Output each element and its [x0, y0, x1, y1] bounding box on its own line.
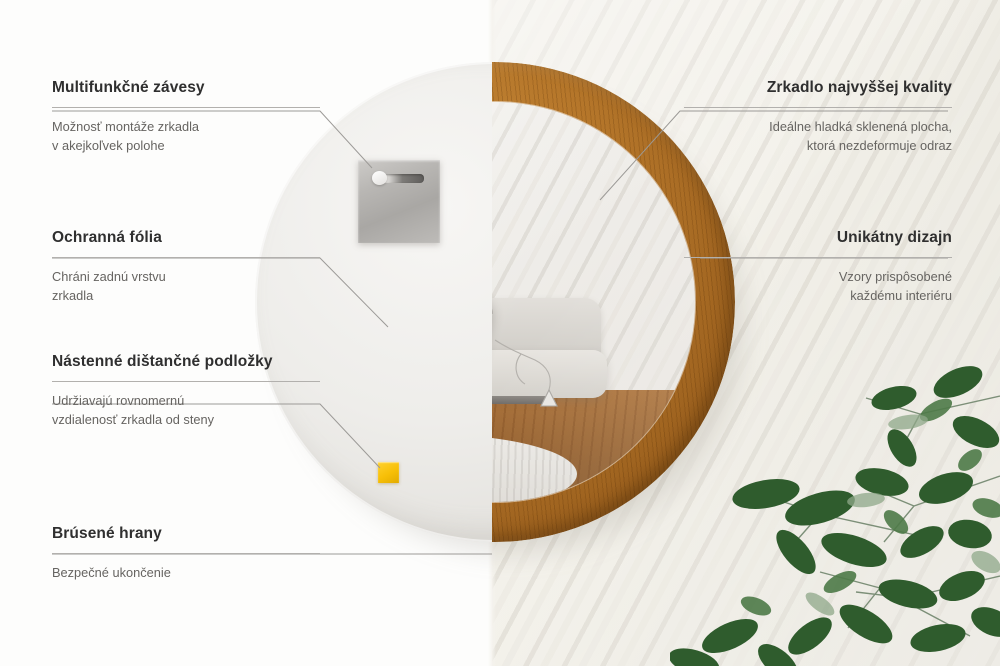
- annotation-title: Ochranná fólia: [52, 228, 320, 248]
- annotation-desc: Možnosť montáže zrkadla v akejkoľvek pol…: [52, 117, 320, 155]
- annotation-desc-line2: vzdialenosť zrkadla od steny: [52, 412, 214, 427]
- annotation-desc-line1: Udržiavajú rovnomernú: [52, 393, 184, 408]
- annotation-title: Unikátny dizajn: [684, 228, 952, 248]
- annotation-brusene-hrany: Brúsené hrany Bezpečné ukončenie: [52, 524, 320, 582]
- annotation-desc: Chráni zadnú vrstvu zrkadla: [52, 267, 320, 305]
- annotation-desc-line2: zrkadla: [52, 288, 93, 303]
- product-mirror: [255, 62, 735, 542]
- wall-spacer-pad: [378, 462, 399, 483]
- annotation-ochranna-folia: Ochranná fólia Chráni zadnú vrstvu zrkad…: [52, 228, 320, 305]
- annotation-rule: [52, 257, 320, 258]
- annotation-nastenne-distancne-podlozky: Nástenné dištančné podložky Udržiavajú r…: [52, 352, 320, 429]
- annotation-desc-line1: Chráni zadnú vrstvu: [52, 269, 166, 284]
- annotation-unikatny-dizajn: Unikátny dizajn Vzory prispôsobené každé…: [684, 228, 952, 305]
- annotation-rule: [684, 257, 952, 258]
- annotation-rule: [684, 107, 952, 108]
- annotation-title: Zrkadlo najvyššej kvality: [684, 78, 952, 98]
- annotation-desc: Ideálne hladká sklenená plocha, ktorá ne…: [684, 117, 952, 155]
- annotation-title: Nástenné dištančné podložky: [52, 352, 320, 372]
- annotation-desc-line1: Bezpečné ukončenie: [52, 565, 171, 580]
- annotation-desc-line2: ktorá nezdeformuje odraz: [807, 138, 952, 153]
- annotation-desc-line1: Vzory prispôsobené: [839, 269, 952, 284]
- annotation-title: Multifunkčné závesy: [52, 78, 320, 98]
- infographic-canvas: Multifunkčné závesy Možnosť montáže zrka…: [0, 0, 1000, 666]
- annotation-desc: Udržiavajú rovnomernú vzdialenosť zrkadl…: [52, 391, 320, 429]
- annotation-zrkadlo-najvyssej-kvality: Zrkadlo najvyššej kvality Ideálne hladká…: [684, 78, 952, 155]
- annotation-rule: [52, 553, 320, 554]
- annotation-desc-line1: Možnosť montáže zrkadla: [52, 119, 199, 134]
- annotation-title: Brúsené hrany: [52, 524, 320, 544]
- hanger-screw-hole: [372, 171, 387, 185]
- annotation-desc-line2: každému interiéru: [850, 288, 952, 303]
- annotation-desc: Bezpečné ukončenie: [52, 563, 320, 582]
- annotation-desc-line2: v akejkoľvek polohe: [52, 138, 165, 153]
- annotation-desc-line1: Ideálne hladká sklenená plocha,: [769, 119, 952, 134]
- wall-hanger-plate: [358, 160, 440, 243]
- annotation-multifunkcne-zavesy: Multifunkčné závesy Možnosť montáže zrka…: [52, 78, 320, 155]
- annotation-rule: [52, 107, 320, 108]
- annotation-desc: Vzory prispôsobené každému interiéru: [684, 267, 952, 305]
- annotation-rule: [52, 381, 320, 382]
